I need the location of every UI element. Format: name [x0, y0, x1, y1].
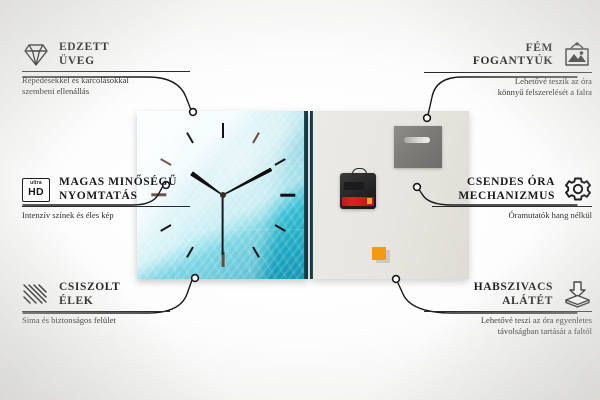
callout-header: CSISZOLT ÉLEK [22, 281, 170, 308]
hour-tick [160, 224, 171, 232]
callout-title: FÉM FOGANTYÚK [473, 42, 553, 69]
picture-hanger-icon [562, 41, 592, 69]
callout-header: ultra HD MAGAS MINŐSÉGŰ NYOMTATÁS [22, 176, 190, 203]
hour-tick [280, 194, 295, 197]
battery [342, 197, 374, 206]
callout-silent-mechanism: CSENDES ÓRA MECHANIZMUS Óramutatók hang … [432, 176, 592, 221]
gear-icon [564, 176, 592, 203]
callout-description: Repedésekkel és karcolásokkal szembeni e… [22, 75, 190, 96]
glass-edge [310, 111, 313, 279]
callout-header: FÉM FOGANTYÚK [424, 41, 592, 69]
hour-tick [186, 246, 194, 257]
hour-tick [274, 158, 285, 166]
callout-metal-handles: FÉM FOGANTYÚK Lehetővé teszik az óra kön… [424, 41, 592, 97]
callout-title: CSENDES ÓRA MECHANIZMUS [458, 176, 555, 203]
callout-description: Intenzív színek és éles kép [22, 210, 190, 221]
diamond-icon [22, 42, 50, 68]
callout-header: HABSZIVACS ALÁTÉT [424, 281, 592, 308]
hour-tick [222, 123, 225, 138]
callout-rule [22, 206, 190, 207]
foam-spacer-pad [372, 247, 386, 260]
callout-title: HABSZIVACS ALÁTÉT [474, 281, 553, 308]
metal-hanger-plate [394, 126, 442, 168]
hour-tick [274, 224, 285, 232]
ultra-hd-badge-icon: ultra HD [22, 178, 50, 202]
callout-description: Sima és biztonságos felület [22, 315, 170, 326]
callout-header: EDZETT ÜVEG [22, 41, 190, 68]
callout-title: EDZETT ÜVEG [59, 41, 109, 68]
infographic-canvas: EDZETT ÜVEG Repedésekkel és karcolásokka… [0, 0, 600, 400]
second-hand [222, 195, 224, 255]
callout-foam-pad: HABSZIVACS ALÁTÉT Lehetővé teszi az óra … [424, 281, 592, 336]
callout-description: Óramutatók hang nélkül [432, 210, 592, 221]
callout-rule [424, 72, 592, 73]
foam-pad-arrow-icon [562, 281, 592, 308]
glass-edge [304, 111, 308, 279]
callout-high-quality-print: ultra HD MAGAS MINŐSÉGŰ NYOMTATÁS Intenz… [22, 176, 190, 221]
polished-edge-icon [22, 283, 50, 307]
hour-tick [252, 246, 260, 257]
callout-description: Lehetővé teszik az óra könnyű felszerelé… [424, 76, 592, 97]
callout-rule [424, 311, 592, 312]
callout-title: MAGAS MINŐSÉGŰ NYOMTATÁS [59, 176, 177, 203]
callout-rule [22, 71, 190, 72]
hour-tick [252, 132, 260, 143]
callout-description: Lehetővé teszi az óra egyenletes távolsá… [424, 315, 592, 336]
mechanism-hanger-loop [352, 168, 367, 177]
callout-header: CSENDES ÓRA MECHANIZMUS [432, 176, 592, 203]
hand-center-cap [220, 192, 226, 198]
hour-hand [190, 171, 224, 197]
minute-hand [222, 167, 272, 196]
callout-rule [22, 311, 170, 312]
callout-polished-edges: CSISZOLT ÉLEK Sima és biztonságos felüle… [22, 281, 170, 326]
clock-mechanism-box [340, 173, 376, 209]
mechanism-slot [344, 182, 364, 190]
callout-rule [432, 206, 592, 207]
hour-tick [186, 132, 194, 143]
hour-tick [160, 158, 171, 166]
callout-tempered-glass: EDZETT ÜVEG Repedésekkel és karcolásokka… [22, 41, 190, 96]
callout-title: CSISZOLT ÉLEK [59, 281, 120, 308]
